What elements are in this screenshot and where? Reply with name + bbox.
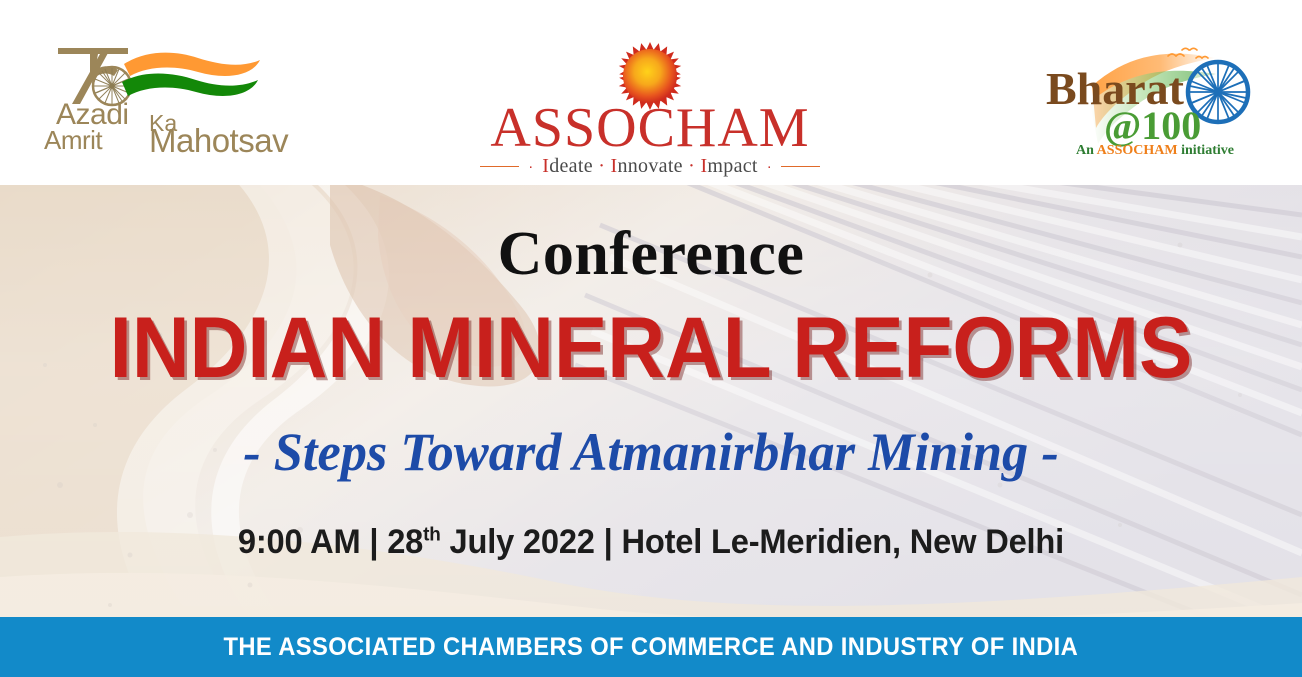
- eyebrow-conference: Conference: [0, 223, 1302, 285]
- event-details: 9:00 AM | 28th July 2022 | Hotel Le-Meri…: [26, 525, 1276, 559]
- banner-content: Conference INDIAN MINERAL REFORMS - Step…: [0, 185, 1302, 617]
- assocham-tagline-text: Ideate · Innovate · Impact: [542, 155, 758, 178]
- details-separator-2: |: [595, 523, 622, 561]
- bharat-initiative-tagline: An ASSOCHAM initiative: [1040, 143, 1270, 159]
- tagline-dot-left: ·: [528, 159, 533, 174]
- event-day-ordinal: th: [423, 524, 440, 546]
- footer-bar: THE ASSOCIATED CHAMBERS OF COMMERCE AND …: [0, 617, 1302, 677]
- page-title: INDIAN MINERAL REFORMS: [46, 305, 1257, 391]
- tagline-rule-left: [480, 166, 519, 167]
- bharat-100-artwork: Bharat @100: [1040, 42, 1270, 152]
- event-day: 28: [387, 523, 423, 561]
- assocham-wordmark: ASSOCHAM: [480, 100, 820, 156]
- svg-text:@100: @100: [1104, 103, 1201, 148]
- tagline-rule-right: [781, 166, 820, 167]
- event-time: 9:00 AM: [238, 523, 361, 561]
- bharat-tag-initiative: initiative: [1181, 143, 1234, 158]
- tagline-dot-right: ·: [767, 159, 772, 174]
- bharat-at-100-logo: Bharat @100 An ASSOCHAM initiative: [1040, 42, 1270, 177]
- assocham-logo: ASSOCHAM · Ideate · Innovate · Impact ·: [480, 40, 820, 180]
- subtitle: - Steps Toward Atmanirbhar Mining -: [20, 425, 1283, 479]
- bharat-tag-an: An: [1076, 143, 1094, 158]
- azadi-ka-amrit-mahotsav-logo: Azadi Ka Amrit Mahotsav: [36, 38, 286, 170]
- details-separator-1: |: [361, 523, 388, 561]
- logo-band: Azadi Ka Amrit Mahotsav: [0, 0, 1302, 185]
- event-month-year: July 2022: [441, 523, 595, 561]
- footer-text: THE ASSOCIATED CHAMBERS OF COMMERCE AND …: [224, 633, 1079, 662]
- bharat-tag-assocham: ASSOCHAM: [1097, 143, 1178, 158]
- event-venue: Hotel Le-Meridien, New Delhi: [621, 523, 1064, 561]
- assocham-tagline: · Ideate · Innovate · Impact ·: [480, 155, 820, 178]
- azadi-logo-text: Azadi Ka Amrit Mahotsav: [44, 100, 284, 170]
- azadi-word-mahotsav: Mahotsav: [149, 124, 288, 157]
- azadi-word-amrit: Amrit: [44, 127, 102, 153]
- conference-banner: Conference INDIAN MINERAL REFORMS - Step…: [0, 0, 1302, 677]
